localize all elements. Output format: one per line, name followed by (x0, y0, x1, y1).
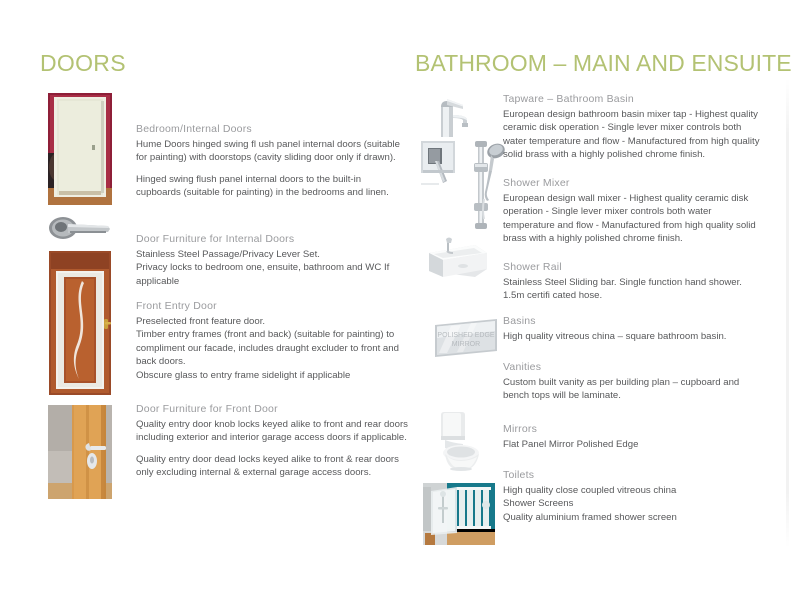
entry-door-furniture-internal: Door Furniture for Internal Doors Stainl… (136, 233, 408, 288)
entry-mirrors: Mirrors Flat Panel Mirror Polished Edge (503, 423, 765, 451)
entry-paragraph: Quality entry door knob locks keyed alik… (136, 418, 408, 445)
entry-title: Vanities (503, 361, 765, 373)
entry-title: Shower Mixer (503, 177, 765, 189)
entry-toilets: Toilets High quality close coupled vitre… (503, 469, 765, 524)
entry-paragraph: European design wall mixer - Highest qua… (503, 192, 765, 246)
internal-flush-door-photo (48, 93, 112, 205)
bathroom-section-title: BATHROOM – MAIN AND ENSUITE (415, 52, 765, 75)
wall-shower-mixer-photo (417, 137, 465, 191)
entry-door-furniture-front: Door Furniture for Front Door Quality en… (136, 403, 408, 480)
bathroom-column: BATHROOM – MAIN AND ENSUITE (415, 52, 765, 93)
entry-title: Bedroom/Internal Doors (136, 123, 408, 135)
entry-paragraph: Preselected front feature door. (136, 315, 408, 328)
entry-title: Toilets (503, 469, 765, 481)
entry-paragraph: Custom built vanity as per building plan… (503, 376, 765, 403)
lever-handle-photo (46, 215, 116, 241)
entry-paragraph: Privacy locks to bedroom one, ensuite, b… (136, 261, 408, 288)
entry-shower-mixer: Shower Mixer European design wall mixer … (503, 177, 765, 246)
square-basin-photo (423, 235, 491, 281)
entry-paragraph: High quality vitreous china – square bat… (503, 330, 765, 343)
front-entry-door-photo (48, 251, 112, 395)
entry-paragraph: Stainless Steel Passage/Privacy Lever Se… (136, 248, 408, 261)
front-door-furniture-photo (48, 405, 112, 499)
specification-page: DOORS (0, 0, 800, 600)
page-edge-shadow (786, 78, 789, 548)
entry-paragraph: European design bathroom basin mixer tap… (503, 108, 765, 162)
toilet-suite-photo (433, 409, 489, 471)
entry-paragraph: Hinged swing flush panel internal doors … (136, 173, 408, 200)
entry-title: Shower Rail (503, 261, 765, 273)
entry-shower-rail: Shower Rail Stainless Steel Sliding bar.… (503, 261, 765, 303)
entry-paragraph: High quality close coupled vitreous chin… (503, 484, 765, 497)
entry-title: Mirrors (503, 423, 765, 435)
shower-screen-photo (423, 483, 495, 545)
entry-paragraph: Quality entry door dead locks keyed alik… (136, 453, 408, 480)
entry-basins: Basins High quality vitreous china – squ… (503, 315, 765, 343)
entry-paragraph: Obscure glass to entry frame sidelight i… (136, 369, 408, 382)
entry-title: Door Furniture for Internal Doors (136, 233, 408, 245)
svg-text:MIRROR: MIRROR (452, 341, 480, 348)
entry-paragraph: Hume Doors hinged swing fl ush panel int… (136, 138, 408, 165)
doors-section-title: DOORS (40, 52, 410, 75)
svg-text:POLISHED EDGE: POLISHED EDGE (437, 332, 495, 339)
entry-tapware-bathroom-basin: Tapware – Bathroom Basin European design… (503, 93, 765, 162)
entry-paragraph: Stainless Steel Sliding bar. Single func… (503, 276, 765, 303)
entry-title: Front Entry Door (136, 300, 408, 312)
doors-column: DOORS (40, 52, 410, 93)
entry-title: Tapware – Bathroom Basin (503, 93, 765, 105)
entry-paragraph: Flat Panel Mirror Polished Edge (503, 438, 765, 451)
entry-vanities: Vanities Custom built vanity as per buil… (503, 361, 765, 403)
entry-front-entry-door: Front Entry Door Preselected front featu… (136, 300, 408, 382)
entry-paragraph: Quality aluminium framed shower screen (503, 511, 765, 524)
entry-title: Basins (503, 315, 765, 327)
polished-edge-mirror-photo: POLISHED EDGE MIRROR (431, 317, 501, 359)
entry-paragraph: Shower Screens (503, 497, 765, 510)
entry-bedroom-internal-doors: Bedroom/Internal Doors Hume Doors hinged… (136, 123, 408, 200)
entry-paragraph: Timber entry frames (front and back) (su… (136, 328, 408, 368)
entry-title: Door Furniture for Front Door (136, 403, 408, 415)
